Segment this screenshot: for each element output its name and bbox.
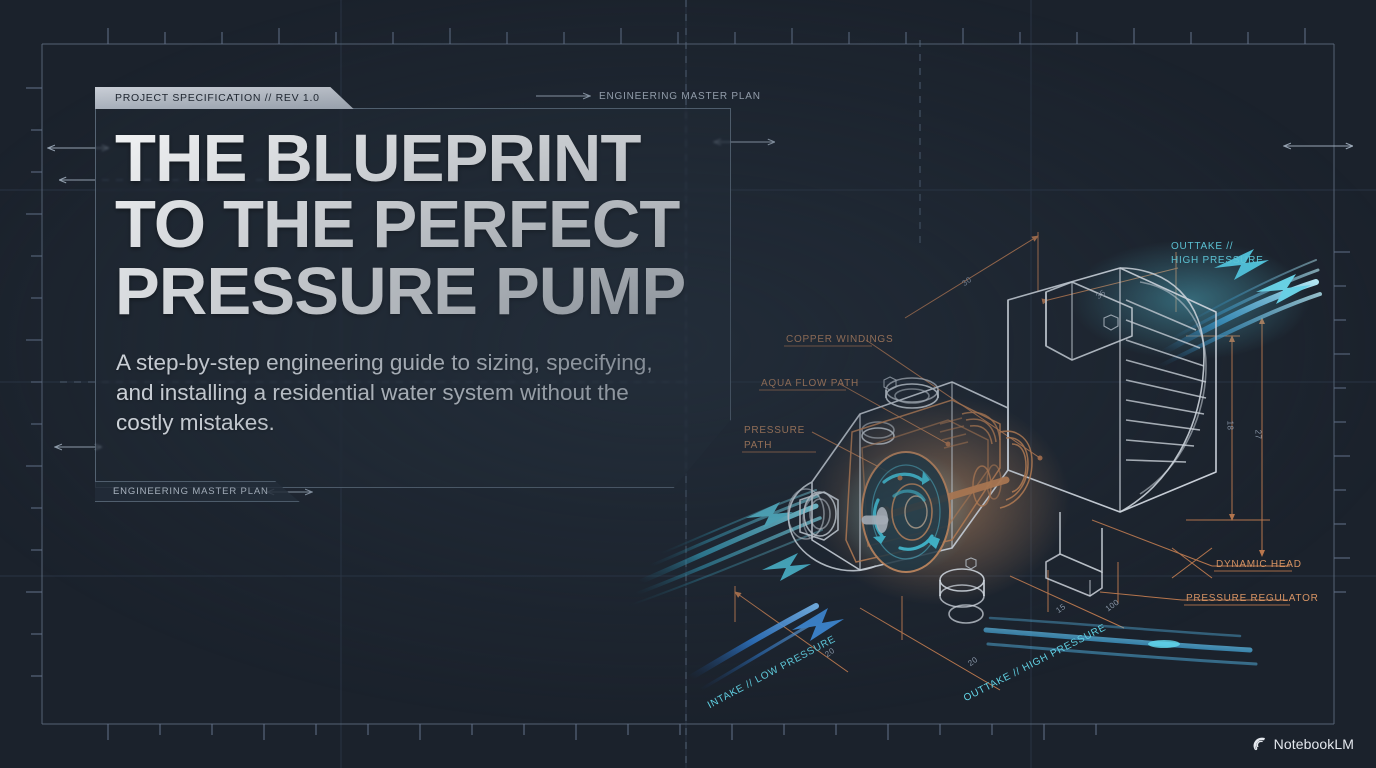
annotation-copper-windings: COPPER WINDINGS	[786, 334, 893, 345]
dimension-dim-vert-1: 18	[1225, 421, 1234, 431]
annotation-outtake-hp-top-1: OUTTAKE //	[1171, 241, 1233, 252]
annotation-pressure-path-1: PRESSURE	[744, 425, 805, 436]
project-spec-label: PROJECT SPECIFICATION // REV 1.0	[115, 92, 320, 104]
outlet-flow-lower	[986, 618, 1256, 664]
title-line-3: PRESSURE PUMP	[115, 259, 715, 325]
annotation-aqua-flow-path: AQUA FLOW PATH	[761, 378, 859, 389]
notebooklm-spiral-icon	[1250, 735, 1267, 752]
notebooklm-label: NotebookLM	[1274, 736, 1354, 752]
title-line-2: TO THE PERFECT	[115, 192, 715, 258]
page-title: THE BLUEPRINT TO THE PERFECT PRESSURE PU…	[115, 126, 715, 325]
master-plan-tab-bottom: ENGINEERING MASTER PLAN	[95, 481, 300, 502]
engineering-master-plan-header-label: ENGINEERING MASTER PLAN	[599, 91, 761, 102]
blueprint-poster: PROJECT SPECIFICATION // REV 1.0 THE BLU…	[0, 0, 1376, 768]
outlet-nozzle-glint	[1148, 640, 1180, 648]
annotation-outtake-hp-top-2: HIGH PRESSURE	[1171, 255, 1264, 266]
annotation-dynamic-head: DYNAMIC HEAD	[1216, 559, 1302, 570]
title-line-1: THE BLUEPRINT	[115, 126, 715, 192]
annotation-pressure-regulator: PRESSURE REGULATOR	[1186, 593, 1319, 604]
intake-arrow-2	[762, 553, 811, 581]
master-plan-bottom-label: ENGINEERING MASTER PLAN	[113, 486, 269, 497]
page-subtitle: A step-by-step engineering guide to sizi…	[116, 348, 656, 438]
intake-arrow-1	[746, 502, 793, 528]
impeller	[862, 452, 950, 572]
project-spec-tab: PROJECT SPECIFICATION // REV 1.0	[95, 87, 354, 109]
notebooklm-watermark: NotebookLM	[1250, 735, 1354, 752]
annotation-pressure-path-2: PATH	[744, 440, 772, 451]
dimension-dim-vert-2: 27	[1253, 430, 1262, 440]
